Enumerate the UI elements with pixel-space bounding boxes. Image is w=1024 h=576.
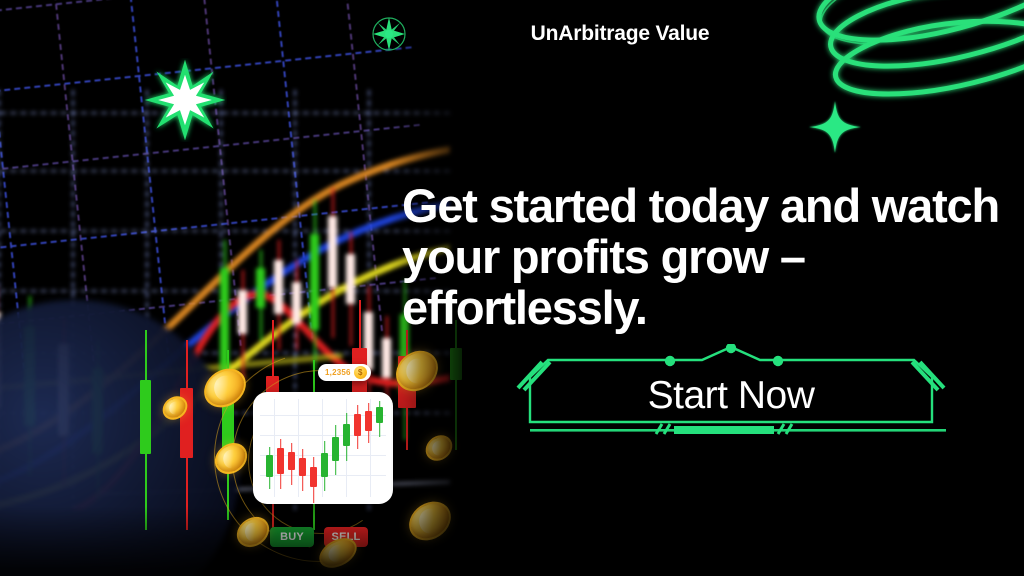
trading-widget-card[interactable] [253,392,393,504]
starburst-icon [143,58,227,142]
price-badge: 1,2356 $ [318,364,371,381]
dollar-coin-icon: $ [354,366,367,379]
gold-coin [422,431,455,465]
start-now-label: Start Now [516,374,946,418]
widget-candlestick-chart [260,399,386,497]
sparkle-icon [806,100,864,154]
page-title: UnArbitrage Value [470,22,770,46]
gold-coin [404,495,455,547]
headline-text: Get started today and watch your profits… [402,180,1002,333]
promo-banner: 1,2356 $ BUY SELL [0,0,1024,576]
price-value: 1,2356 [325,368,351,377]
gold-coin [316,532,361,573]
start-now-button[interactable]: Start Now [516,344,946,444]
sell-button[interactable]: SELL [324,527,368,547]
ring-star-icon [369,14,409,54]
gold-coin [391,344,443,398]
buy-button[interactable]: BUY [270,527,314,547]
gold-coin [233,512,273,553]
trade-actions: BUY SELL [270,527,368,547]
